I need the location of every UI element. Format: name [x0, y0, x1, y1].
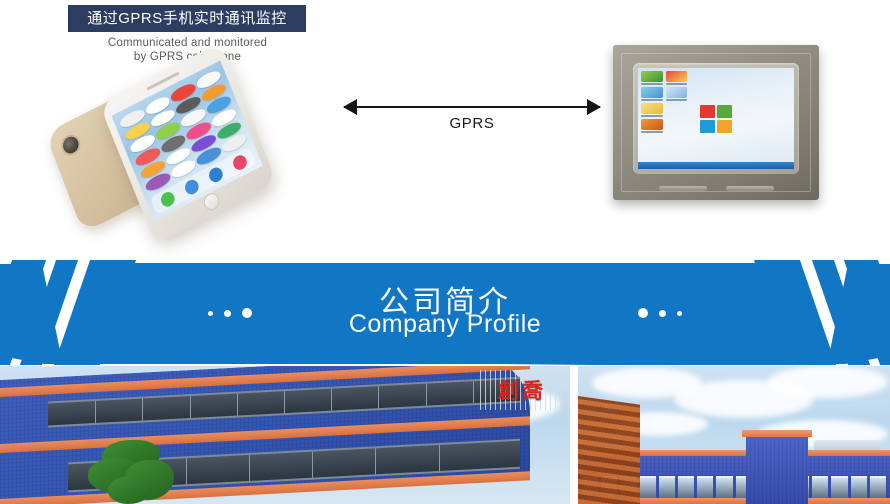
photo-factory-front: 創喬 [0, 366, 570, 504]
building-facade [0, 366, 530, 504]
smartphone-pair-illustration [44, 62, 344, 227]
hmi-clamp-left [659, 186, 707, 191]
gprs-title-bar: 通过GPRS手机实时通讯监控 [68, 5, 306, 32]
building-tower-block [746, 430, 808, 504]
desktop-icon-grid [641, 71, 687, 133]
hmi-screen-bezel [633, 63, 799, 174]
rooftop-sign-text: 創喬 [480, 375, 564, 405]
arrow-label: GPRS [344, 115, 600, 132]
company-profile-banner: 公司简介 Company Profile [0, 260, 890, 365]
gprs-monitoring-diagram: 通过GPRS手机实时通讯监控 Communicated and monitore… [0, 0, 890, 263]
windows-logo-icon [700, 105, 732, 133]
arrow-line [344, 106, 600, 108]
hmi-screen [638, 68, 794, 169]
hmi-touch-panel [613, 45, 819, 200]
facade-band [742, 430, 812, 437]
arrow-head-left-icon [343, 99, 357, 115]
gprs-subtitle-line1: Communicated and monitored [60, 36, 315, 50]
banner-title-en: Company Profile [0, 310, 890, 339]
product-detail-page: 通过GPRS手机实时通讯监控 Communicated and monitore… [0, 0, 890, 504]
hmi-panel-clamps [613, 186, 819, 192]
hmi-clamp-right [726, 186, 774, 191]
scaffold-structure [578, 396, 640, 504]
tree [84, 432, 180, 504]
rooftop-sign: 創喬 [480, 370, 564, 410]
gprs-link-arrow: GPRS [344, 95, 600, 141]
phone-front-view [99, 42, 277, 243]
arrow-head-right-icon [587, 99, 601, 115]
company-photos-row: 創喬 [0, 366, 890, 504]
photo-factory-side [578, 366, 890, 504]
hmi-taskbar [638, 162, 794, 169]
